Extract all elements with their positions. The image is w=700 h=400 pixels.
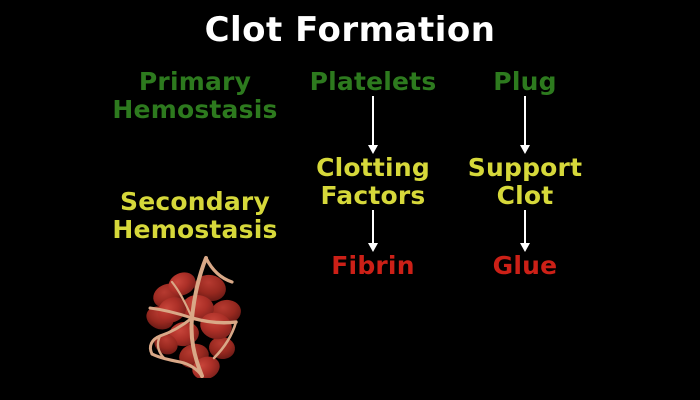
arrow-down-icon xyxy=(366,96,380,154)
column-pathway-gap xyxy=(100,128,290,188)
node-secondary-hemostasis: Secondary Hemostasis xyxy=(100,188,290,250)
arrow-shaft xyxy=(524,210,526,244)
arrow-shaft xyxy=(372,96,374,146)
arrow-down-icon xyxy=(366,210,380,252)
arrow-shaft xyxy=(524,96,526,146)
node-glue: Glue xyxy=(430,252,620,280)
arrow-down-icon xyxy=(518,210,532,252)
arrow-head xyxy=(368,243,378,252)
blood-clot-illustration xyxy=(136,252,252,378)
arrow-head xyxy=(368,145,378,154)
clot-formation-slide: Clot Formation Primary Hemostasis Second… xyxy=(0,0,700,400)
arrow-head xyxy=(520,243,530,252)
node-plug: Plug xyxy=(430,68,620,96)
arrow-shaft xyxy=(372,210,374,244)
arrow-down-icon xyxy=(518,96,532,154)
column-function: Plug Support Clot Glue xyxy=(430,68,620,280)
node-support-clot: Support Clot xyxy=(430,154,620,210)
arrow-head xyxy=(520,145,530,154)
column-pathway: Primary Hemostasis Secondary Hemostasis xyxy=(100,68,290,250)
page-title: Clot Formation xyxy=(0,12,700,49)
node-primary-hemostasis: Primary Hemostasis xyxy=(100,68,290,128)
